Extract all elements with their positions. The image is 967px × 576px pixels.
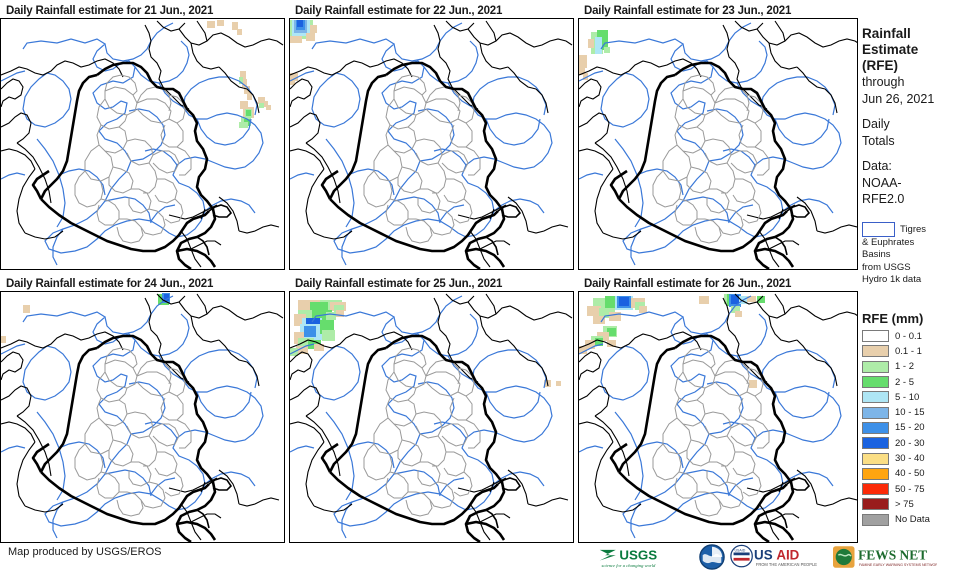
legend-label: 30 - 40 [895,453,925,464]
svg-text:FROM THE AMERICAN PEOPLE: FROM THE AMERICAN PEOPLE [756,562,817,567]
basins-label-line3: Basins [862,249,967,262]
legend-item: 50 - 75 [862,481,967,496]
legend-label: 50 - 75 [895,484,925,495]
legend-swatch [862,422,889,434]
panel-3-map[interactable] [578,18,858,270]
legend-swatch [862,361,889,373]
legend-data-line3: RFE2.0 [862,191,967,208]
legend-label: > 75 [895,499,914,510]
legend-swatch [862,483,889,495]
panel-4-map[interactable] [0,291,285,543]
panel-6-title: Daily Rainfall estimate for 26 Jun., 202… [578,277,858,291]
svg-text:USAID: USAID [734,549,745,553]
legend-item: > 75 [862,497,967,512]
legend-data-line1: Data: [862,158,967,175]
svg-text:FEWS NET: FEWS NET [858,548,927,563]
map-panel-3: Daily Rainfall estimate for 23 Jun., 202… [578,4,858,270]
panel-1-map[interactable] [0,18,285,270]
legend-swatch [862,514,889,526]
logo-bar: USGS science for a changing world USAID … [598,543,937,571]
basins-swatch [862,222,895,237]
map-svg-6 [579,292,857,542]
footer-credit: Map produced by USGS/EROS [8,546,161,558]
basins-label-tigres: Tigres [900,222,926,237]
legend-swatch [862,376,889,388]
legend-totals-line1: Daily [862,116,967,133]
usgs-logo[interactable]: USGS science for a changing world [598,544,694,570]
rfe-legend-items: 0 - 0.10.1 - 11 - 22 - 55 - 1010 - 1515 … [862,329,967,528]
legend-swatch [862,437,889,449]
panel-3-title: Daily Rainfall estimate for 23 Jun., 202… [578,4,858,18]
legend-heading-line3: (RFE) [862,58,967,74]
legend-label: 2 - 5 [895,377,914,388]
legend-label: 5 - 10 [895,392,919,403]
svg-text:science for a changing world: science for a changing world [602,563,656,568]
legend-item: 5 - 10 [862,390,967,405]
legend-through-date: Jun 26, 2021 [862,91,967,108]
legend-label: 20 - 30 [895,438,925,449]
legend-swatch [862,498,889,510]
legend-label: 0.1 - 1 [895,346,922,357]
map-svg-2 [290,19,573,269]
legend-panel: Rainfall Estimate (RFE) through Jun 26, … [862,0,967,576]
panel-2-map[interactable] [289,18,574,270]
panel-5-title: Daily Rainfall estimate for 25 Jun., 202… [289,277,574,291]
legend-totals-line2: Totals [862,133,967,150]
map-panel-5: Daily Rainfall estimate for 25 Jun., 202… [289,277,574,543]
svg-text:AID: AID [776,548,799,563]
svg-text:US: US [754,548,773,563]
svg-text:USGS: USGS [619,548,657,563]
panel-1-title: Daily Rainfall estimate for 21 Jun., 202… [0,4,285,18]
legend-swatch [862,391,889,403]
legend-item: 1 - 2 [862,359,967,374]
map-panel-1: Daily Rainfall estimate for 21 Jun., 202… [0,4,285,270]
map-panel-6: Daily Rainfall estimate for 26 Jun., 202… [578,277,858,543]
legend-heading-line2: Estimate [862,42,967,58]
basins-label-line5: Hydro 1k data [862,274,967,287]
basins-label-line2: & Euphrates [862,237,967,250]
legend-item: 20 - 30 [862,436,967,451]
basins-label-line4: from USGS [862,262,967,275]
fewsnet-logo[interactable]: FEWS NET FAMINE EARLY WARNING SYSTEMS NE… [833,544,937,570]
rain-raster-2 [290,20,317,85]
rain-raster-1 [207,20,271,128]
legend-swatch [862,330,889,342]
legend-item: 30 - 40 [862,451,967,466]
map-svg-4 [1,292,284,542]
rfe-mm-title: RFE (mm) [862,311,967,326]
panel-5-map[interactable] [289,291,574,543]
panel-6-map[interactable] [578,291,858,543]
usaid-logo[interactable]: USAID US AID FROM THE AMERICAN PEOPLE [730,544,828,570]
legend-item: 0 - 0.1 [862,329,967,344]
legend-item: 40 - 50 [862,466,967,481]
svg-text:FAMINE EARLY WARNING SYSTEMS N: FAMINE EARLY WARNING SYSTEMS NETWORK [859,563,937,567]
map-svg-3 [579,19,857,269]
map-panel-2: Daily Rainfall estimate for 22 Jun., 202… [289,4,574,270]
legend-label: 0 - 0.1 [895,331,922,342]
legend-label: 40 - 50 [895,468,925,479]
legend-label: No Data [895,514,930,525]
legend-through-label: through [862,74,967,91]
legend-item: 0.1 - 1 [862,344,967,359]
legend-swatch [862,345,889,357]
legend-item: No Data [862,512,967,527]
map-svg-5 [290,292,573,542]
noaa-logo[interactable] [699,544,725,570]
legend-item: 2 - 5 [862,374,967,389]
panel-4-title: Daily Rainfall estimate for 24 Jun., 202… [0,277,285,291]
legend-data-line2: NOAA- [862,175,967,192]
map-panel-4: Daily Rainfall estimate for 24 Jun., 202… [0,277,285,543]
legend-label: 10 - 15 [895,407,925,418]
legend-swatch [862,468,889,480]
legend-swatch [862,453,889,465]
legend-item: 10 - 15 [862,405,967,420]
legend-item: 15 - 20 [862,420,967,435]
map-svg-1 [1,19,284,269]
legend-swatch [862,407,889,419]
legend-label: 1 - 2 [895,361,914,372]
legend-label: 15 - 20 [895,422,925,433]
rain-raster-3 [579,30,610,80]
legend-heading-line1: Rainfall [862,26,967,42]
panel-2-title: Daily Rainfall estimate for 22 Jun., 202… [289,4,574,18]
basins-legend-entry: Tigres [862,222,967,237]
